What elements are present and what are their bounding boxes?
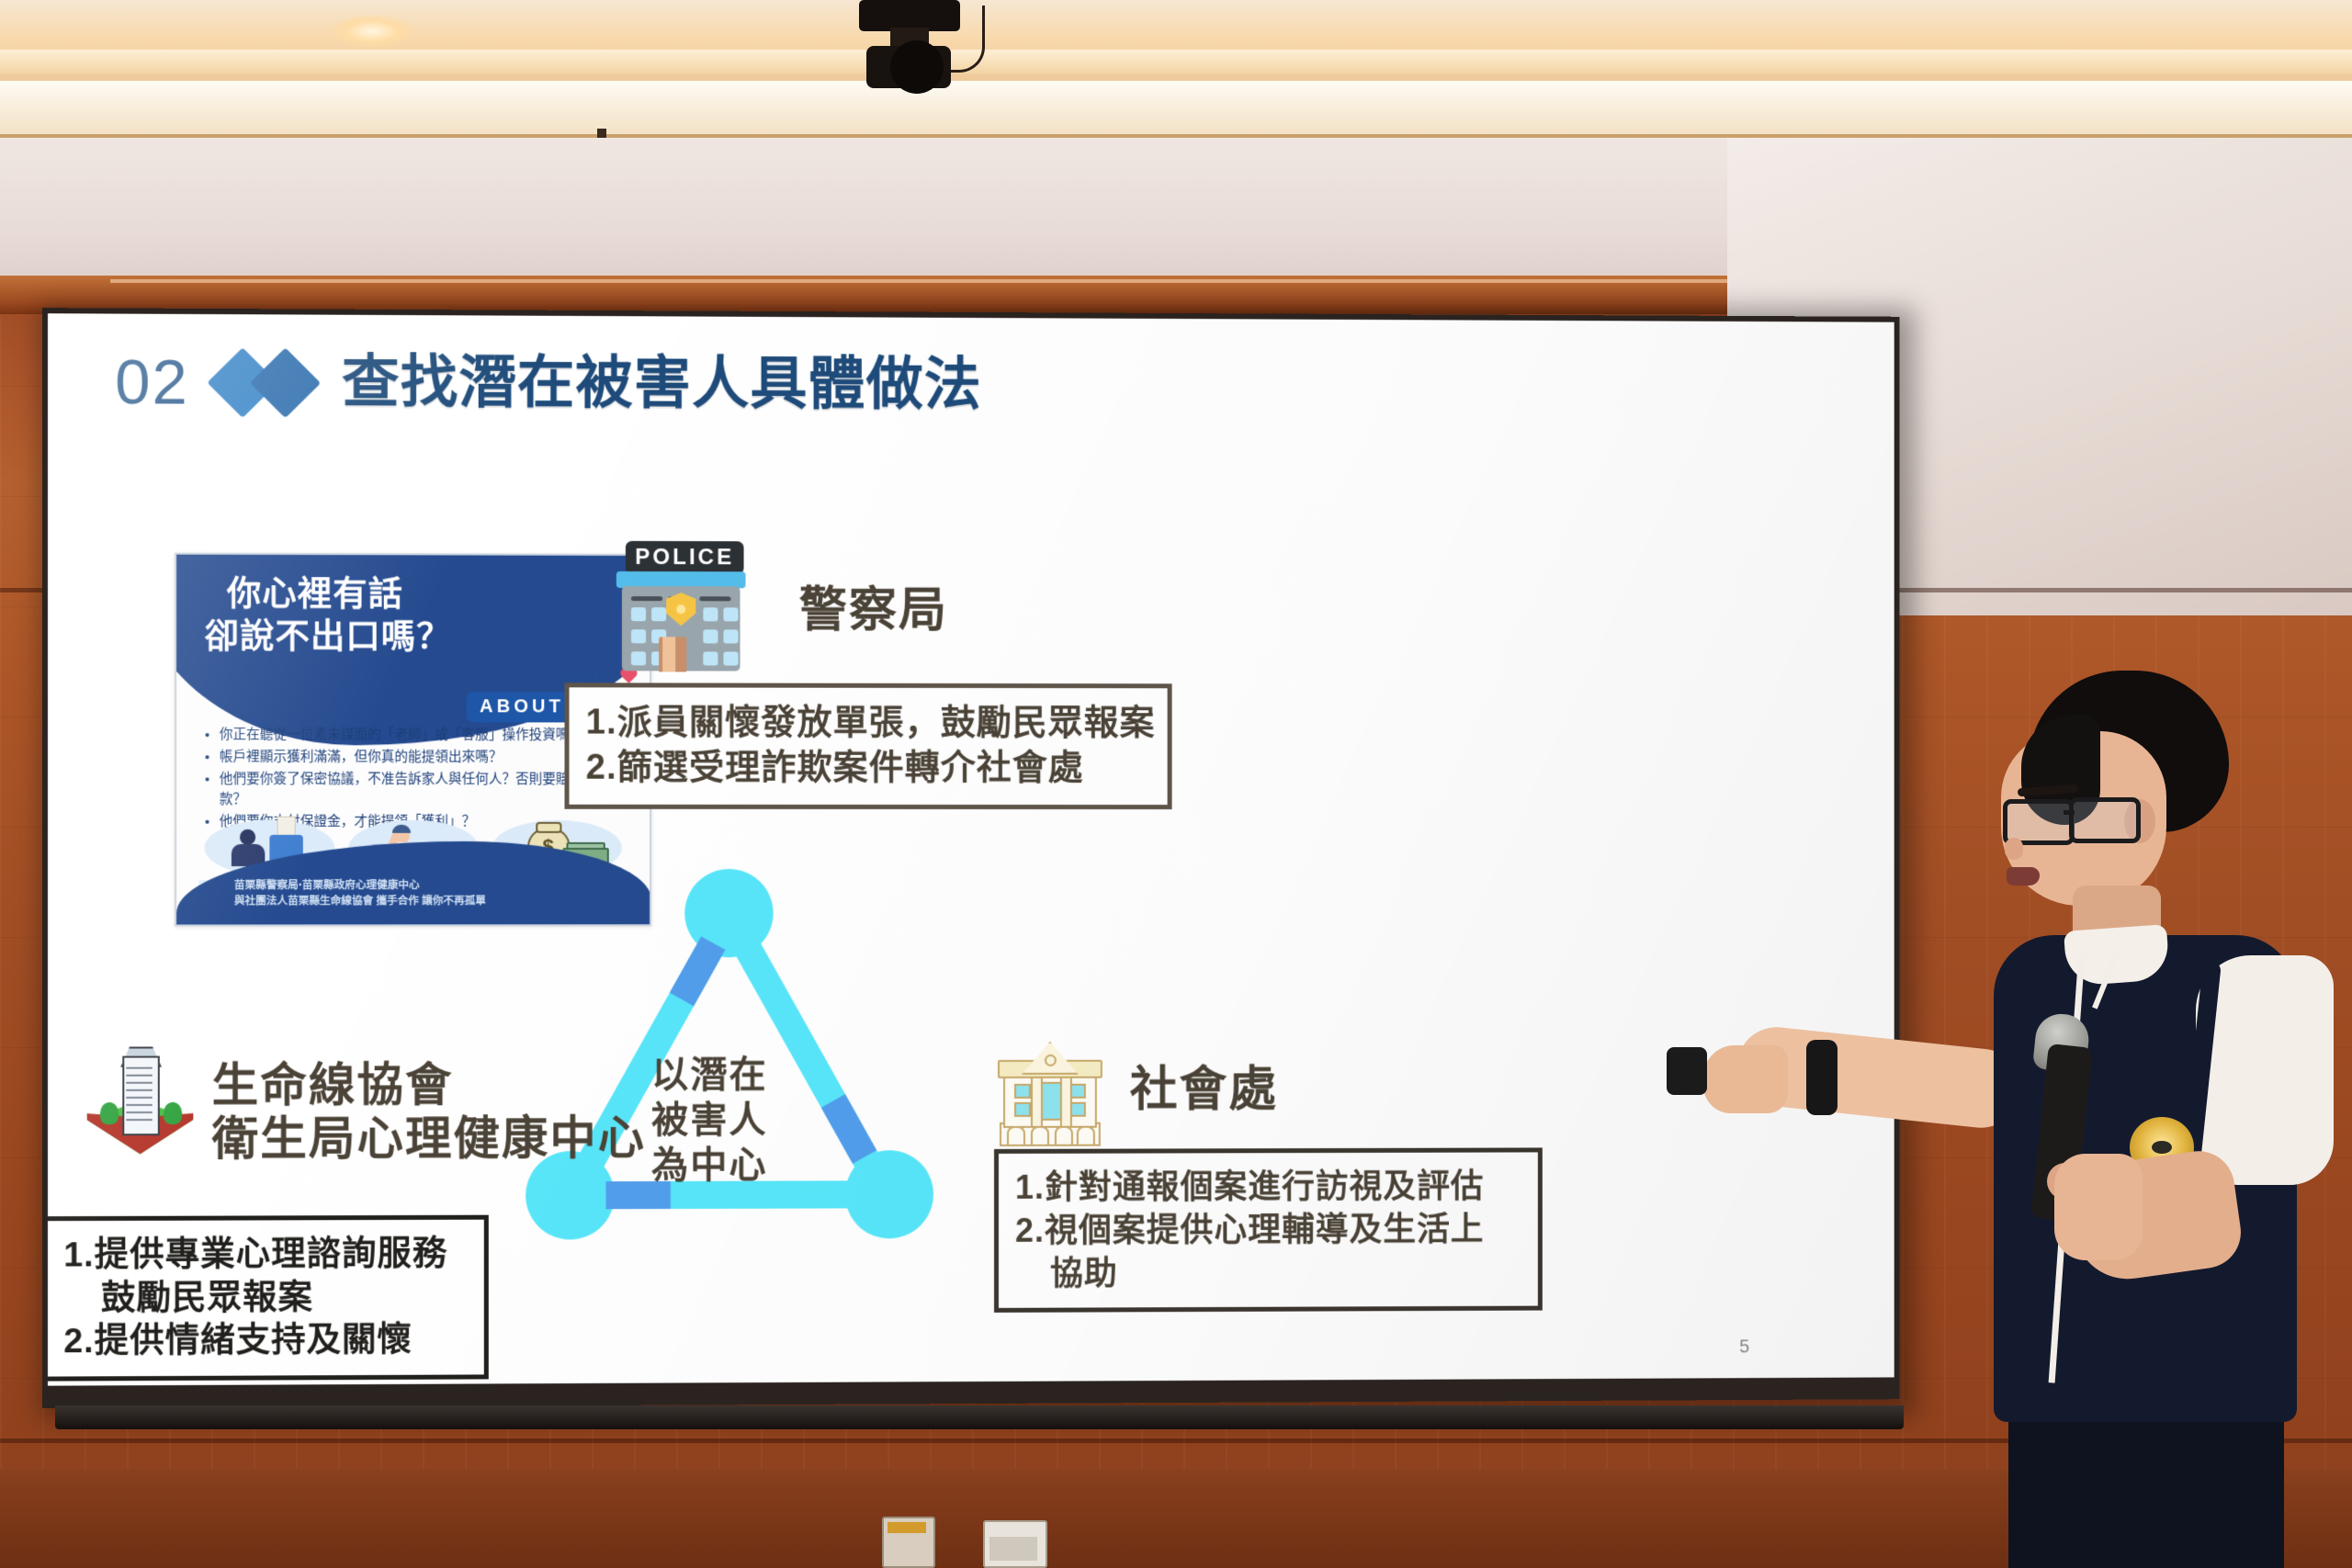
table-object <box>882 1517 935 1568</box>
presenter <box>1893 643 2352 1568</box>
page-number: 5 <box>1739 1337 1749 1358</box>
presenter-mouth <box>2007 867 2040 886</box>
slide: 02 查找潛在被害人具體做法 你心裡有話 卻說不出口嗎？ WE CARE <box>48 313 1894 1385</box>
projection-screen: 02 查找潛在被害人具體做法 你心裡有話 卻說不出口嗎？ WE CARE <box>48 313 1894 1385</box>
room-scene: 02 查找潛在被害人具體做法 你心裡有話 卻說不出口嗎？ WE CARE <box>0 0 2352 1568</box>
projection-screen-frame: 02 查找潛在被害人具體做法 你心裡有話 卻說不出口嗎？ WE CARE <box>42 308 1900 1408</box>
wristwatch <box>1806 1040 1837 1115</box>
police-label: 警察局 <box>799 571 948 640</box>
diamond-icon <box>217 352 313 413</box>
police-action-line: 1.派員關懷發放單張，鼓勵民眾報案 <box>586 700 1151 746</box>
slide-header: 02 查找潛在被害人具體做法 <box>115 351 982 417</box>
police-actions-box: 1.派員關懷發放單張，鼓勵民眾報案 2.篩選受理詐欺案件轉介社會處 <box>564 682 1171 809</box>
lifeline-label-line2: 衛生局心理健康中心 <box>212 1101 646 1168</box>
screen-bottom-bar <box>55 1405 1904 1429</box>
police-sign: POLICE <box>626 541 744 574</box>
list-item: 帳戶裡顯示獲利滿滿，但你真的能提領出來嗎？ <box>220 747 622 768</box>
center-label-line: 被害人 <box>651 1098 845 1143</box>
lifeline-actions-box: 1.提供專業心理諮詢服務 鼓勵民眾報案 2.提供情緒支持及關懷 <box>48 1215 489 1382</box>
triangle-center-label: 以潛在 被害人 為中心 <box>651 1053 845 1188</box>
table-object <box>983 1520 1047 1568</box>
poster-headline-2: 卻說不出口嗎？ <box>205 608 452 659</box>
lifeline-action-line: 1.提供專業心理諮詢服務 <box>63 1233 467 1277</box>
triangle-diagram: 以潛在 被害人 為中心 <box>531 878 965 1284</box>
center-label-line: 以潛在 <box>651 1053 845 1098</box>
center-label-line: 為中心 <box>651 1143 845 1188</box>
lifeline-action-line: 2.提供情緒支持及關懷 <box>63 1318 467 1363</box>
lifeline-building-icon <box>85 1054 196 1156</box>
ceiling-light-strip <box>0 50 2352 73</box>
ceiling-band <box>0 81 2352 134</box>
page-title: 查找潛在被害人具體做法 <box>342 355 982 414</box>
police-station-icon: POLICE <box>605 541 753 671</box>
list-item: 他們要你簽了保密協議，不准告訴家人與任何人？否則要賠償鉅款？ <box>220 769 622 810</box>
downlight <box>331 15 413 48</box>
ceiling-camera-icon <box>850 0 969 103</box>
wood-trim-highlight <box>110 279 1746 283</box>
social-action-line: 1.針對通報個案進行訪視及評估 <box>1015 1165 1521 1209</box>
presentation-clicker <box>1667 1047 1707 1095</box>
list-item: 你正在聽從一位素未謀面的「老師」或「客服」操作投資嗎？ <box>220 725 622 746</box>
police-action-line: 2.篩選受理詐欺案件轉介社會處 <box>586 746 1151 792</box>
social-affairs-label: 社會處 <box>1130 1050 1278 1119</box>
section-number: 02 <box>115 351 189 414</box>
social-affairs-actions-box: 1.針對通報個案進行訪視及評估 2.視個案提供心理輔導及生活上 協助 <box>994 1147 1543 1313</box>
eyeglasses-icon <box>2003 797 2141 840</box>
presenter-nose <box>2005 838 2023 860</box>
poster-bullet-list: 你正在聽從一位素未謀面的「老師」或「客服」操作投資嗎？ 帳戶裡顯示獲利滿滿，但你… <box>202 725 621 834</box>
presenter-right-hand <box>2054 1154 2143 1260</box>
lifeline-action-line: 鼓勵民眾報案 <box>63 1276 467 1321</box>
social-affairs-building-icon <box>994 1043 1102 1145</box>
social-action-line: 協助 <box>1015 1251 1521 1296</box>
social-action-line: 2.視個案提供心理輔導及生活上 <box>1015 1208 1521 1252</box>
presenter-trousers <box>2008 1405 2284 1568</box>
presenter-left-hand <box>1703 1045 1788 1113</box>
